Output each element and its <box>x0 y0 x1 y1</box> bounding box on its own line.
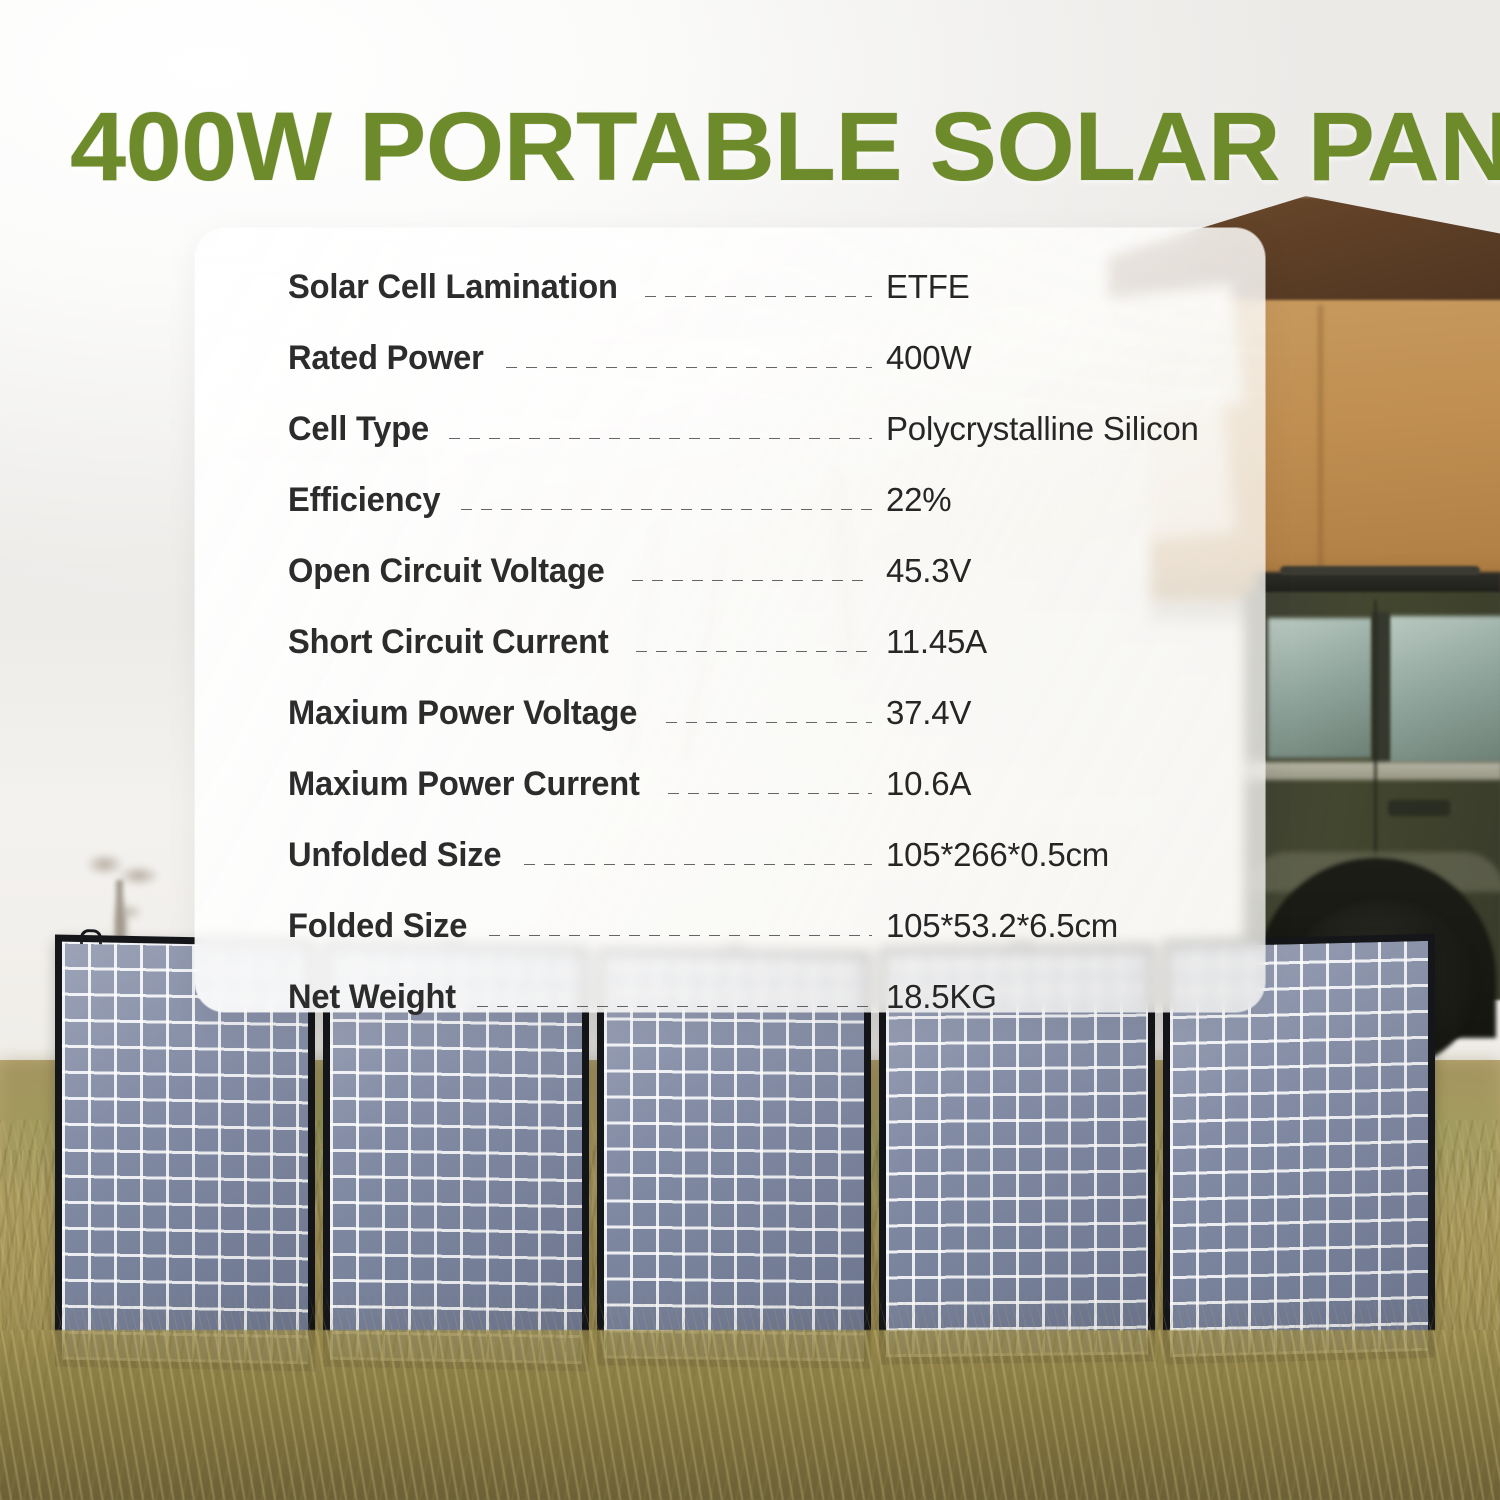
spec-row: Short Circuit Current11.45A <box>288 617 1278 667</box>
spec-value: 22% <box>886 481 1278 519</box>
leader-line <box>477 1006 872 1007</box>
leader-line <box>645 296 872 297</box>
spec-row: Net Weight18.5KG <box>288 972 1278 1022</box>
leader-line <box>636 651 872 652</box>
spec-label: Solar Cell Lamination <box>288 268 618 307</box>
spec-value: 400W <box>886 339 1278 377</box>
leader-line <box>506 367 872 368</box>
spec-value: 37.4V <box>886 694 1278 732</box>
spec-label: Net Weight <box>288 978 456 1017</box>
spec-value: 45.3V <box>886 552 1278 590</box>
spec-value: Polycrystalline Silicon <box>886 410 1278 448</box>
spec-label: Maxium Power Voltage <box>288 694 637 733</box>
spec-value: 105*53.2*6.5cm <box>886 907 1278 945</box>
spec-value: ETFE <box>886 268 1278 306</box>
leader-line <box>668 793 872 794</box>
spec-row: Folded Size105*53.2*6.5cm <box>288 901 1278 951</box>
leader-line <box>524 864 872 865</box>
spec-label: Maxium Power Current <box>288 765 640 804</box>
spec-label: Folded Size <box>288 907 467 946</box>
infographic-canvas: 400W PORTABLE SOLAR PANEL Solar Cell Lam… <box>0 0 1500 1500</box>
spec-label: Open Circuit Voltage <box>288 552 605 591</box>
spec-row: Maxium Power Voltage37.4V <box>288 688 1278 738</box>
spec-value: 11.45A <box>886 623 1278 661</box>
leader-line <box>489 935 872 936</box>
spec-row: Maxium Power Current10.6A <box>288 759 1278 809</box>
spec-label: Efficiency <box>288 481 440 520</box>
spec-row: Efficiency22% <box>288 475 1278 525</box>
leader-line <box>449 438 872 439</box>
spec-row: Unfolded Size105*266*0.5cm <box>288 830 1278 880</box>
spec-row: Rated Power400W <box>288 333 1278 383</box>
spec-label: Rated Power <box>288 339 484 378</box>
spec-label: Short Circuit Current <box>288 623 609 662</box>
spec-label: Cell Type <box>288 410 429 449</box>
spec-value: 105*266*0.5cm <box>886 836 1278 874</box>
leader-line <box>461 509 872 510</box>
spec-row: Cell TypePolycrystalline Silicon <box>288 404 1278 454</box>
spec-table: Solar Cell LaminationETFERated Power400W… <box>0 0 1500 1500</box>
spec-label: Unfolded Size <box>288 836 501 875</box>
leader-line <box>632 580 872 581</box>
spec-value: 10.6A <box>886 765 1278 803</box>
leader-line <box>666 722 872 723</box>
spec-value: 18.5KG <box>886 978 1278 1016</box>
spec-row: Solar Cell LaminationETFE <box>288 262 1278 312</box>
spec-row: Open Circuit Voltage45.3V <box>288 546 1278 596</box>
